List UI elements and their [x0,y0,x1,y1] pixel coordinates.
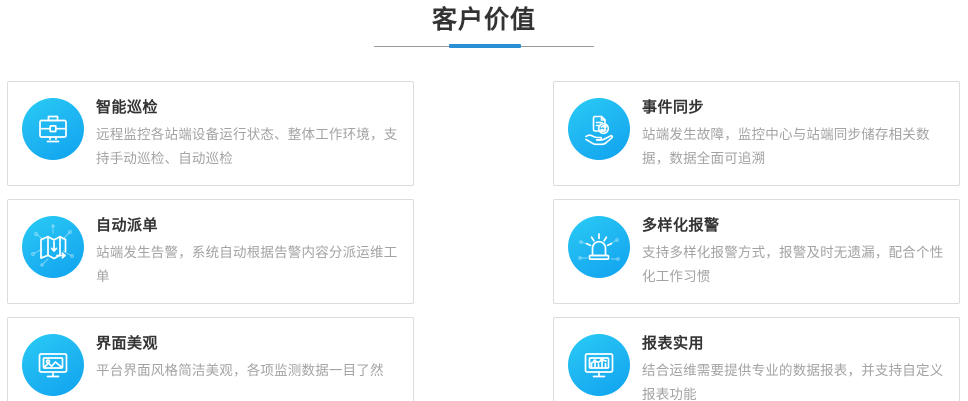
card-description: 结合运维需要提供专业的数据报表，并支持自定义报表功能 [642,359,947,401]
card-body: 多样化报警 支持多样化报警方式，报警及时无遗漏，配合个性化工作习惯 [642,214,947,289]
title-divider [374,43,594,51]
value-card-grid: 智能巡检 远程监控各站端设备运行状态、整体工作环境，支持手动巡检、自动巡检 [7,81,961,401]
value-card-practical-report[interactable]: 报表实用 结合运维需要提供专业的数据报表，并支持自定义报表功能 [553,317,960,401]
value-card-diverse-alarm[interactable]: 多样化报警 支持多样化报警方式，报警及时无遗漏，配合个性化工作习惯 [553,199,960,304]
card-title: 界面美观 [96,333,401,355]
value-card-auto-dispatch[interactable]: 自动派单 站端发生告警，系统自动根据告警内容分派运维工单 [7,199,414,304]
card-body: 事件同步 站端发生故障，监控中心与站端同步储存相关数据，数据全面可追溯 [642,96,947,171]
divider-accent [449,44,521,48]
card-title: 自动派单 [96,215,401,237]
card-title: 智能巡检 [96,97,401,119]
section-header: 客户价值 [0,0,968,51]
card-description: 站端发生故障，监控中心与站端同步储存相关数据，数据全面可追溯 [642,123,947,171]
event-sync-hand-icon [568,98,630,160]
card-description: 平台界面风格简洁美观，各项监测数据一目了然 [96,359,401,383]
value-card-event-sync[interactable]: 事件同步 站端发生故障，监控中心与站端同步储存相关数据，数据全面可追溯 [553,81,960,186]
card-title: 事件同步 [642,97,947,119]
auto-dispatch-route-icon [22,216,84,278]
page-title: 客户价值 [0,4,968,36]
value-card-intelligent-inspection[interactable]: 智能巡检 远程监控各站端设备运行状态、整体工作环境，支持手动巡检、自动巡检 [7,81,414,186]
monitor-inspection-icon [22,98,84,160]
card-description: 支持多样化报警方式，报警及时无遗漏，配合个性化工作习惯 [642,241,947,289]
card-body: 界面美观 平台界面风格简洁美观，各项监测数据一目了然 [96,332,401,383]
card-title: 报表实用 [642,333,947,355]
customer-value-section: 客户价值 智能巡检 远程监控各站端设备运行状态 [0,0,968,401]
value-card-beautiful-ui[interactable]: 界面美观 平台界面风格简洁美观，各项监测数据一目了然 [7,317,414,401]
card-description: 站端发生告警，系统自动根据告警内容分派运维工单 [96,241,401,289]
card-title: 多样化报警 [642,215,947,237]
card-body: 报表实用 结合运维需要提供专业的数据报表，并支持自定义报表功能 [642,332,947,401]
report-chart-monitor-icon [568,334,630,396]
card-description: 远程监控各站端设备运行状态、整体工作环境，支持手动巡检、自动巡检 [96,123,401,171]
card-body: 自动派单 站端发生告警，系统自动根据告警内容分派运维工单 [96,214,401,289]
card-body: 智能巡检 远程监控各站端设备运行状态、整体工作环境，支持手动巡检、自动巡检 [96,96,401,171]
monitor-image-icon [22,334,84,396]
alarm-siren-icon [568,216,630,278]
